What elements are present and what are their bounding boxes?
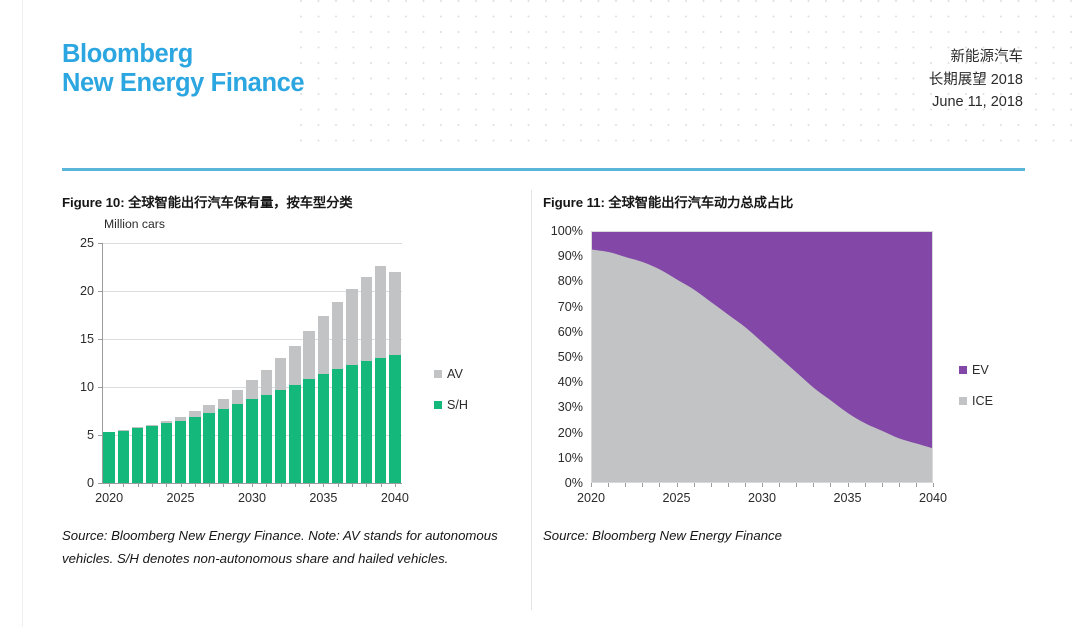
legend-label: AV [447, 367, 463, 381]
bar-segment-sh [318, 374, 329, 483]
figure-11-source: Source: Bloomberg New Energy Finance [543, 524, 1013, 547]
bar-column [103, 432, 114, 483]
bar-column [389, 272, 400, 483]
bar-segment-av [246, 380, 257, 399]
bar-segment-sh [118, 430, 129, 483]
x-tickmark [123, 483, 124, 487]
legend-swatch-av-icon [434, 370, 442, 378]
legend-swatch-ice-icon [959, 397, 967, 405]
x-tickmark [796, 483, 797, 487]
figure-11-column: Figure 11: 全球智能出行汽车动力总成占比 0%10%20%30%40%… [543, 192, 1025, 517]
x-tickmark [677, 483, 678, 487]
x-tickmark [295, 483, 296, 487]
bar-column [346, 289, 357, 483]
y-tick-label: 90% [543, 249, 583, 263]
bar-segment-av [346, 289, 357, 365]
header-meta: 新能源汽车 长期展望 2018 June 11, 2018 [929, 46, 1023, 114]
bar-column [275, 358, 286, 483]
x-tickmark [195, 483, 196, 487]
y-tick-label: 15 [62, 332, 94, 346]
y-tick-label: 30% [543, 400, 583, 414]
y-tick-label: 70% [543, 300, 583, 314]
x-tickmark [642, 483, 643, 487]
bar-segment-av [275, 358, 286, 390]
bar-column [175, 417, 186, 483]
x-tickmark [608, 483, 609, 487]
bar-segment-av [289, 346, 300, 385]
x-tickmark [252, 483, 253, 487]
x-tickmark [899, 483, 900, 487]
x-tickmark [813, 483, 814, 487]
bar-segment-av [232, 390, 243, 404]
bar-segment-sh [132, 428, 143, 483]
x-tickmark [625, 483, 626, 487]
x-tick-label: 2040 [919, 491, 947, 505]
bar-segment-sh [103, 432, 114, 483]
y-tick-label: 0 [62, 476, 94, 490]
y-tick-label: 20% [543, 426, 583, 440]
x-tickmark [395, 483, 396, 487]
bar-column [246, 380, 257, 483]
bar-segment-av [318, 316, 329, 374]
bar-segment-av [361, 277, 372, 361]
bar-segment-sh [389, 355, 400, 483]
bar-column [318, 316, 329, 483]
x-tickmark [659, 483, 660, 487]
x-tickmark [323, 483, 324, 487]
x-tickmark [728, 483, 729, 487]
figure-10-legend: AVS/H [434, 367, 468, 429]
x-tickmark [830, 483, 831, 487]
bar-segment-sh [332, 369, 343, 483]
bar-segment-av [332, 302, 343, 369]
figure-10-column: Figure 10: 全球智能出行汽车保有量，按车型分类 Million car… [62, 192, 532, 517]
x-tickmark [209, 483, 210, 487]
header-meta-line-2: 长期展望 2018 [929, 69, 1023, 92]
y-tick-label: 40% [543, 375, 583, 389]
bar-segment-av [389, 272, 400, 356]
x-tickmark [916, 483, 917, 487]
x-tickmark [338, 483, 339, 487]
legend-label: EV [972, 363, 989, 377]
bar-segment-av [146, 425, 157, 426]
y-tick-label: 80% [543, 274, 583, 288]
x-tickmark [882, 483, 883, 487]
bar-segment-sh [375, 358, 386, 483]
x-tick-label: 2035 [833, 491, 861, 505]
x-tickmark [266, 483, 267, 487]
x-tickmark [591, 483, 592, 487]
bar-column [161, 421, 172, 483]
header-meta-line-3: June 11, 2018 [929, 91, 1023, 114]
bar-segment-av [175, 417, 186, 421]
x-tick-label: 2020 [577, 491, 605, 505]
plot-area [591, 231, 933, 483]
bar-segment-av [303, 331, 314, 379]
bar-segment-sh [175, 421, 186, 483]
x-tickmark [138, 483, 139, 487]
legend-swatch-s-h-icon [434, 401, 442, 409]
bar-segment-sh [232, 404, 243, 483]
x-tick-label: 2030 [748, 491, 776, 505]
x-tickmark [309, 483, 310, 487]
bar-segment-sh [261, 395, 272, 483]
x-tickmark [762, 483, 763, 487]
x-tickmark [152, 483, 153, 487]
bar-column [203, 405, 214, 483]
y-tick-label: 60% [543, 325, 583, 339]
bar-column [146, 425, 157, 483]
x-tickmark [381, 483, 382, 487]
y-tick-label: 25 [62, 236, 94, 250]
bar-segment-sh [303, 379, 314, 483]
figure-10-source: Source: Bloomberg New Energy Finance. No… [62, 524, 532, 570]
x-tickmark [166, 483, 167, 487]
x-tickmark [366, 483, 367, 487]
bar-segment-av [132, 427, 143, 428]
x-tickmark [181, 483, 182, 487]
x-tickmark [865, 483, 866, 487]
x-tick-label: 2040 [381, 491, 409, 505]
legend-item: S/H [434, 398, 468, 412]
bar-segment-sh [218, 409, 229, 483]
x-tickmark [745, 483, 746, 487]
bar-column [261, 370, 272, 483]
bar-segment-av [189, 411, 200, 417]
page-header: Bloomberg New Energy Finance 新能源汽车 长期展望 … [0, 0, 1080, 148]
area-chart-svg [592, 232, 933, 483]
bar-segment-sh [289, 385, 300, 483]
bar-column [189, 411, 200, 483]
bar-segment-av [203, 405, 214, 413]
x-tickmark [109, 483, 110, 487]
x-tickmark [848, 483, 849, 487]
header-meta-line-1: 新能源汽车 [929, 46, 1023, 69]
bar-column [232, 390, 243, 483]
bar-column [218, 399, 229, 483]
y-gridline [102, 243, 402, 244]
header-divider-rule [62, 168, 1025, 171]
bar-column [303, 331, 314, 483]
x-tickmark [281, 483, 282, 487]
bar-segment-sh [246, 399, 257, 483]
y-tick-label: 100% [543, 224, 583, 238]
bar-segment-sh [161, 423, 172, 483]
x-tick-label: 2020 [95, 491, 123, 505]
x-tickmark [238, 483, 239, 487]
bar-column [118, 430, 129, 483]
bloomberg-logo: Bloomberg New Energy Finance [62, 40, 304, 98]
bar-column [361, 277, 372, 483]
bar-segment-sh [361, 361, 372, 483]
x-tickmark [933, 483, 934, 487]
x-tickmark [779, 483, 780, 487]
x-tick-label: 2035 [309, 491, 337, 505]
x-tickmark [694, 483, 695, 487]
y-tick-label: 20 [62, 284, 94, 298]
bar-column [289, 346, 300, 483]
bar-column [332, 302, 343, 483]
bar-segment-sh [189, 417, 200, 483]
y-tick-label: 50% [543, 350, 583, 364]
y-axis-unit-label: Million cars [104, 217, 165, 231]
x-tick-label: 2025 [167, 491, 195, 505]
y-tick-label: 10% [543, 451, 583, 465]
logo-line-2: New Energy Finance [62, 69, 304, 98]
y-tick-label: 10 [62, 380, 94, 394]
figure-11-title: Figure 11: 全球智能出行汽车动力总成占比 [543, 192, 1025, 211]
legend-item: AV [434, 367, 468, 381]
x-tickmark [223, 483, 224, 487]
bar-segment-av [261, 370, 272, 395]
x-tickmark [352, 483, 353, 487]
x-tickmark [711, 483, 712, 487]
bar-segment-av [218, 399, 229, 410]
bar-segment-av [375, 266, 386, 358]
legend-item: EV [959, 363, 993, 377]
figure-11-legend: EVICE [959, 363, 993, 425]
legend-label: S/H [447, 398, 468, 412]
x-tick-label: 2030 [238, 491, 266, 505]
x-tick-label: 2025 [662, 491, 690, 505]
legend-swatch-ev-icon [959, 366, 967, 374]
bar-column [375, 266, 386, 483]
figure-10-chart: Million cars0510152025202020252030203520… [62, 217, 532, 517]
logo-line-1: Bloomberg [62, 40, 193, 68]
bar-segment-av [161, 421, 172, 423]
slide-page: Bloomberg New Energy Finance 新能源汽车 长期展望 … [0, 0, 1080, 627]
y-tick-label: 0% [543, 476, 583, 490]
bar-segment-sh [203, 413, 214, 483]
bar-segment-sh [146, 426, 157, 483]
figure-10-title: Figure 10: 全球智能出行汽车保有量，按车型分类 [62, 192, 532, 211]
bar-segment-sh [275, 390, 286, 483]
bar-column [132, 427, 143, 483]
legend-item: ICE [959, 394, 993, 408]
figure-11-chart: 0%10%20%30%40%50%60%70%80%90%100%2020202… [543, 217, 1025, 517]
legend-label: ICE [972, 394, 993, 408]
bar-segment-sh [346, 365, 357, 483]
y-tick-label: 5 [62, 428, 94, 442]
